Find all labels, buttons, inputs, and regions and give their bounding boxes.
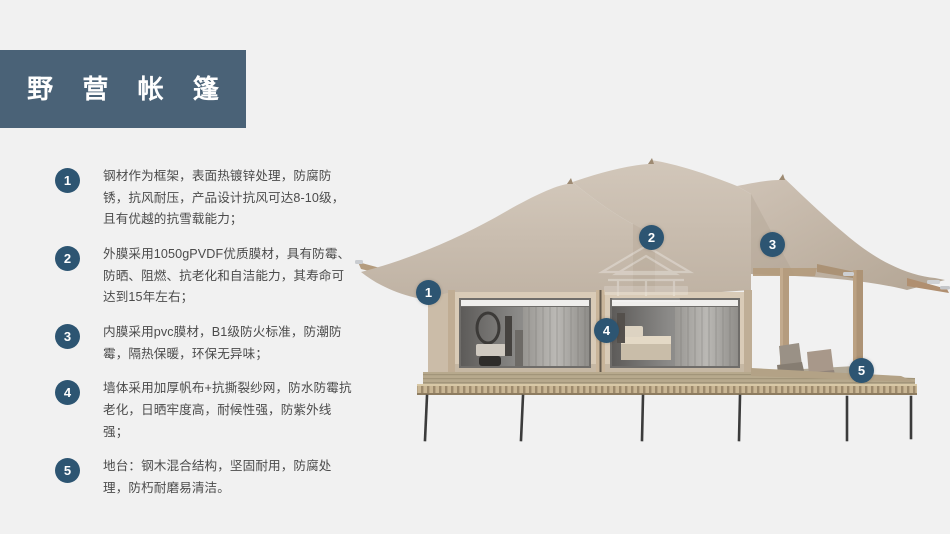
page-title: 野 营 帐 篷: [16, 76, 230, 102]
hotspot-marker-4[interactable]: 4: [594, 318, 619, 343]
hotspot-marker-5[interactable]: 5: [849, 358, 874, 383]
feature-number-badge: 2: [55, 246, 80, 271]
feature-number-badge: 5: [55, 458, 80, 483]
window-left-bathroom: [459, 298, 591, 368]
feature-description: 钢材作为框架，表面热镀锌处理，防腐防锈，抗风耐压，产品设计抗风可达8-10级，且…: [103, 166, 355, 231]
feature-description: 内膜采用pvc膜材，B1级防火标准，防潮防霉，隔热保暖，环保无异味；: [103, 322, 355, 365]
feature-description: 墙体采用加厚帆布+抗撕裂纱网，防水防霉抗老化，日晒牢度高，耐候性强，防紫外线强；: [103, 378, 355, 443]
list-item: 1 钢材作为框架，表面热镀锌处理，防腐防锈，抗风耐压，产品设计抗风可达8-10级…: [55, 166, 355, 231]
list-item: 3 内膜采用pvc膜材，B1级防火标准，防潮防霉，隔热保暖，环保无异味；: [55, 322, 355, 365]
feature-number-badge: 3: [55, 324, 80, 349]
feature-description: 地台：钢木混合结构，坚固耐用，防腐处理，防朽耐磨易清洁。: [103, 456, 355, 499]
feature-number-badge: 1: [55, 168, 80, 193]
window-right-bedroom: [610, 298, 740, 368]
list-item: 4 墙体采用加厚帆布+抗撕裂纱网，防水防霉抗老化，日晒牢度高，耐候性强，防紫外线…: [55, 378, 355, 443]
feature-description: 外膜采用1050gPVDF优质膜材，具有防霉、防晒、阻燃、抗老化和自洁能力，其寿…: [103, 244, 355, 309]
hotspot-marker-3[interactable]: 3: [760, 232, 785, 257]
feature-number-badge: 4: [55, 380, 80, 405]
page-title-banner: 野 营 帐 篷: [0, 50, 246, 128]
hotspot-marker-2[interactable]: 2: [639, 225, 664, 250]
feature-list: 1 钢材作为框架，表面热镀锌处理，防腐防锈，抗风耐压，产品设计抗风可达8-10级…: [55, 166, 355, 513]
tent-illustration: [355, 150, 950, 455]
deck-stilt-legs: [425, 396, 911, 440]
list-item: 2 外膜采用1050gPVDF优质膜材，具有防霉、防晒、阻燃、抗老化和自洁能力，…: [55, 244, 355, 309]
list-item: 5 地台：钢木混合结构，坚固耐用，防腐处理，防朽耐磨易清洁。: [55, 456, 355, 499]
hotspot-marker-1[interactable]: 1: [416, 280, 441, 305]
tent-svg: [355, 150, 950, 455]
